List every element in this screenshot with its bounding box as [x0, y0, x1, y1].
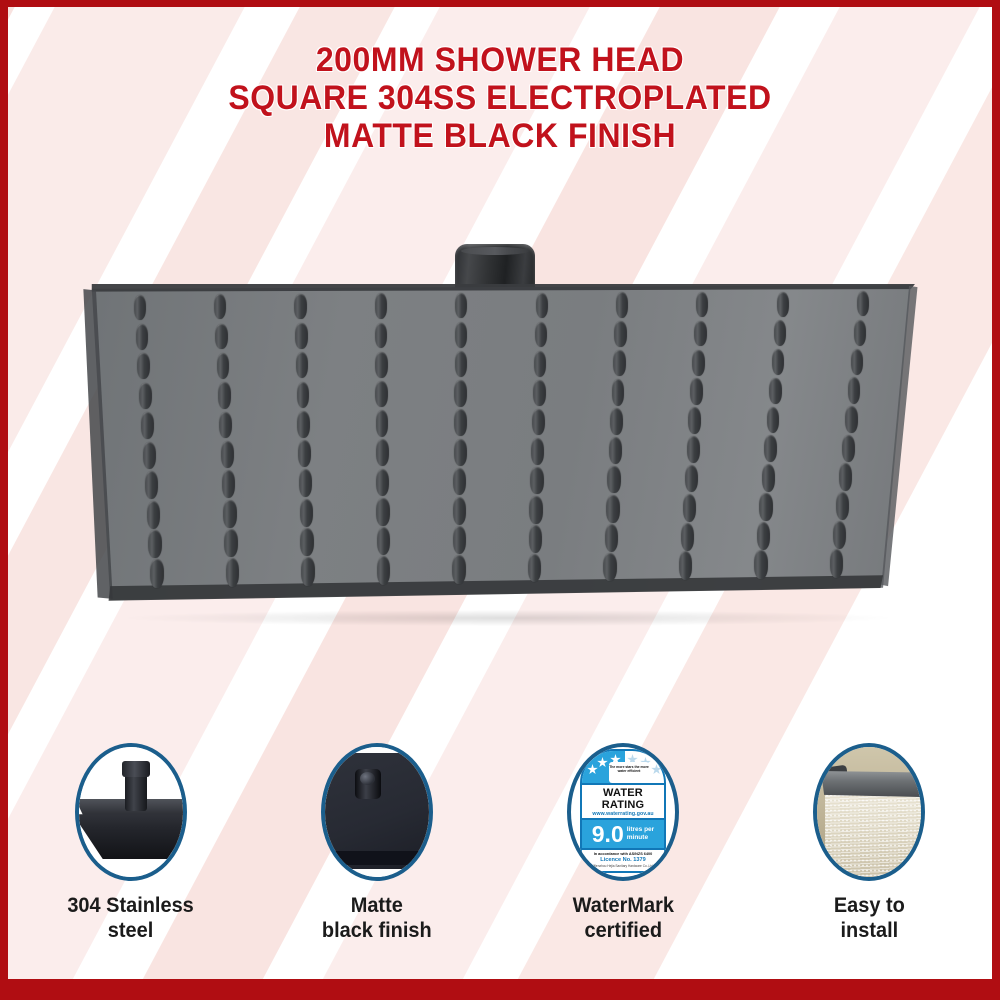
- nozzle: [218, 382, 231, 409]
- nozzle: [375, 323, 387, 349]
- nozzle: [215, 324, 227, 350]
- nozzle: [769, 378, 782, 405]
- water-rating-label-icon: The more stars the more water efficient …: [567, 743, 679, 881]
- page-frame: 200MM SHOWER HEAD SQUARE 304SS ELECTROPL…: [0, 0, 1000, 1000]
- nozzle: [137, 353, 150, 379]
- feature-label-3-line1: WaterMark: [572, 893, 673, 918]
- title-line-3: MATTE BLACK FINISH: [38, 117, 963, 155]
- nozzle: [536, 293, 548, 318]
- nozzle: [226, 558, 240, 587]
- nozzle: [455, 322, 467, 348]
- nozzle: [757, 522, 771, 550]
- feature-label-4-line2: install: [834, 918, 905, 943]
- nozzle: [139, 383, 152, 410]
- nozzle: [296, 352, 309, 378]
- feature-label-1-line1: 304 Stainless: [68, 893, 194, 918]
- nozzle: [848, 377, 861, 404]
- nozzle: [454, 380, 467, 407]
- nozzle: [376, 469, 389, 497]
- wels-star-rating: The more stars the more water efficient: [580, 749, 666, 783]
- nozzle: [145, 471, 158, 499]
- feature-label-1: 304 Stainless steel: [68, 893, 194, 943]
- nozzle: [613, 350, 626, 376]
- product-hero-image: [8, 222, 992, 642]
- nozzle: [375, 381, 388, 408]
- nozzle: [854, 320, 866, 346]
- nozzle: [683, 494, 697, 522]
- nozzle: [607, 466, 620, 494]
- nozzle: [300, 528, 314, 556]
- nozzle: [221, 441, 234, 468]
- nozzle: [295, 323, 307, 349]
- wels-flow-unit-line1: litres per: [627, 826, 654, 834]
- nozzle: [455, 351, 468, 377]
- feature-item-matte-black-finish: Matte black finish: [254, 743, 500, 969]
- wels-licence: Licence No. 1379: [582, 857, 664, 863]
- nozzle: [452, 555, 466, 584]
- nozzle: [529, 496, 543, 524]
- nozzle: [696, 292, 708, 317]
- nozzle: [774, 320, 786, 346]
- feature-item-easy-to-install: Easy to install: [746, 743, 992, 969]
- nozzle: [134, 295, 146, 320]
- wels-flow-band: 9.0 litres per minute: [580, 818, 666, 848]
- nozzle: [679, 551, 693, 580]
- nozzle: [688, 407, 701, 434]
- nozzle: [532, 409, 545, 436]
- feature-label-2-line1: Matte: [322, 893, 432, 918]
- nozzle: [612, 379, 625, 406]
- feature-label-3-line2: certified: [572, 918, 673, 943]
- nozzle: [764, 435, 777, 462]
- nozzle: [845, 406, 858, 433]
- nozzle: [297, 411, 310, 438]
- nozzle: [294, 294, 306, 319]
- nozzle: [529, 525, 543, 553]
- nozzle: [454, 409, 467, 436]
- nozzle: [606, 495, 620, 523]
- nozzle: [836, 492, 850, 520]
- nozzle: [453, 468, 466, 496]
- nozzle: [136, 324, 148, 350]
- nozzle: [694, 321, 706, 347]
- feature-item-watermark-certified: The more stars the more water efficient …: [500, 743, 746, 969]
- nozzle: [685, 465, 698, 493]
- nozzle: [777, 292, 789, 317]
- nozzle: [143, 442, 156, 469]
- nozzle: [453, 497, 467, 525]
- nozzle: [609, 437, 622, 464]
- nozzle: [534, 351, 547, 377]
- nozzle: [376, 410, 389, 437]
- shower-running-water-photo-icon: [813, 743, 925, 881]
- nozzle: [376, 498, 390, 526]
- nozzle: [453, 526, 467, 554]
- nozzle: [690, 378, 703, 405]
- nozzle: [533, 380, 546, 407]
- wels-title-band: WATER RATING www.waterrating.gov.au: [580, 783, 666, 818]
- wels-title-text: WATER RATING: [582, 787, 664, 811]
- nozzle: [377, 527, 391, 555]
- nozzle: [681, 523, 695, 551]
- nozzle: [219, 412, 232, 439]
- wels-star-note: The more stars the more water efficient: [609, 762, 649, 783]
- wels-flow-value: 9.0: [592, 823, 624, 845]
- shower-head-plate: [8, 284, 992, 614]
- nozzle: [297, 382, 310, 409]
- nozzle: [851, 349, 864, 375]
- nozzle: [531, 438, 544, 465]
- nozzle: [857, 291, 869, 316]
- nozzle: [141, 412, 154, 439]
- nozzle: [377, 556, 391, 585]
- nozzle: [687, 436, 700, 463]
- title-line-2: SQUARE 304SS ELECTROPLATED: [38, 79, 963, 117]
- nozzle: [762, 464, 775, 492]
- wels-footer-band: In accordance with AS/NZS 6400 Licence N…: [580, 848, 666, 873]
- product-image-canvas: 200MM SHOWER HEAD SQUARE 304SS ELECTROPL…: [8, 7, 992, 979]
- feature-label-4: Easy to install: [834, 893, 905, 943]
- nozzle: [375, 352, 388, 378]
- wels-flow-unit: litres per minute: [627, 826, 654, 842]
- nozzle: [833, 521, 847, 549]
- nozzle: [616, 292, 628, 317]
- product-title: 200MM SHOWER HEAD SQUARE 304SS ELECTROPL…: [8, 41, 992, 155]
- nozzle: [759, 493, 773, 521]
- nozzle: [376, 439, 389, 466]
- feature-label-4-line1: Easy to: [834, 893, 905, 918]
- nozzle: [767, 407, 780, 434]
- nozzle: [528, 554, 542, 583]
- nozzle: [603, 553, 617, 582]
- feature-row: 304 Stainless steel Matte black finish: [8, 743, 992, 969]
- nozzle: [842, 435, 855, 462]
- nozzle: [839, 463, 852, 491]
- nozzle: [214, 294, 226, 319]
- nozzle: [830, 549, 844, 578]
- wels-label: The more stars the more water efficient …: [580, 749, 666, 875]
- title-line-1: 200MM SHOWER HEAD: [38, 41, 963, 79]
- nozzle: [692, 350, 705, 376]
- feature-label-3: WaterMark certified: [572, 893, 673, 943]
- wels-standard-note: In accordance with AS/NZS 6400: [582, 852, 664, 856]
- nozzle: [614, 321, 626, 347]
- nozzle: [147, 501, 161, 529]
- matte-black-surface-photo-icon: [321, 743, 433, 881]
- wels-flow-unit-line2: minute: [627, 834, 654, 842]
- nozzle: [455, 293, 467, 318]
- feature-label-1-line2: steel: [68, 918, 194, 943]
- nozzle: [605, 524, 619, 552]
- nozzle: [148, 530, 162, 558]
- nozzle: [375, 293, 387, 318]
- nozzle: [224, 529, 238, 557]
- nozzle-grid: [80, 284, 920, 602]
- nozzle: [299, 469, 312, 497]
- nozzle: [772, 349, 785, 375]
- nozzle: [217, 353, 230, 379]
- nozzle: [223, 500, 237, 528]
- feature-label-2-line2: black finish: [322, 918, 432, 943]
- nozzle: [301, 557, 315, 586]
- wels-company: Wenzhou Hejia Sanitary Hardware Co.,Ltd: [582, 864, 664, 868]
- shower-head-back-photo-icon: [75, 743, 187, 881]
- nozzle: [530, 467, 543, 495]
- nozzle: [222, 470, 235, 498]
- nozzle: [300, 499, 314, 527]
- wels-website: www.waterrating.gov.au: [582, 811, 664, 817]
- nozzle: [754, 550, 768, 579]
- nozzle: [150, 559, 164, 588]
- nozzle: [454, 439, 467, 466]
- product-shadow: [128, 610, 888, 626]
- nozzle: [298, 440, 311, 467]
- feature-label-2: Matte black finish: [322, 893, 432, 943]
- feature-item-304-stainless-steel: 304 Stainless steel: [8, 743, 254, 969]
- nozzle: [535, 322, 547, 348]
- nozzle: [610, 408, 623, 435]
